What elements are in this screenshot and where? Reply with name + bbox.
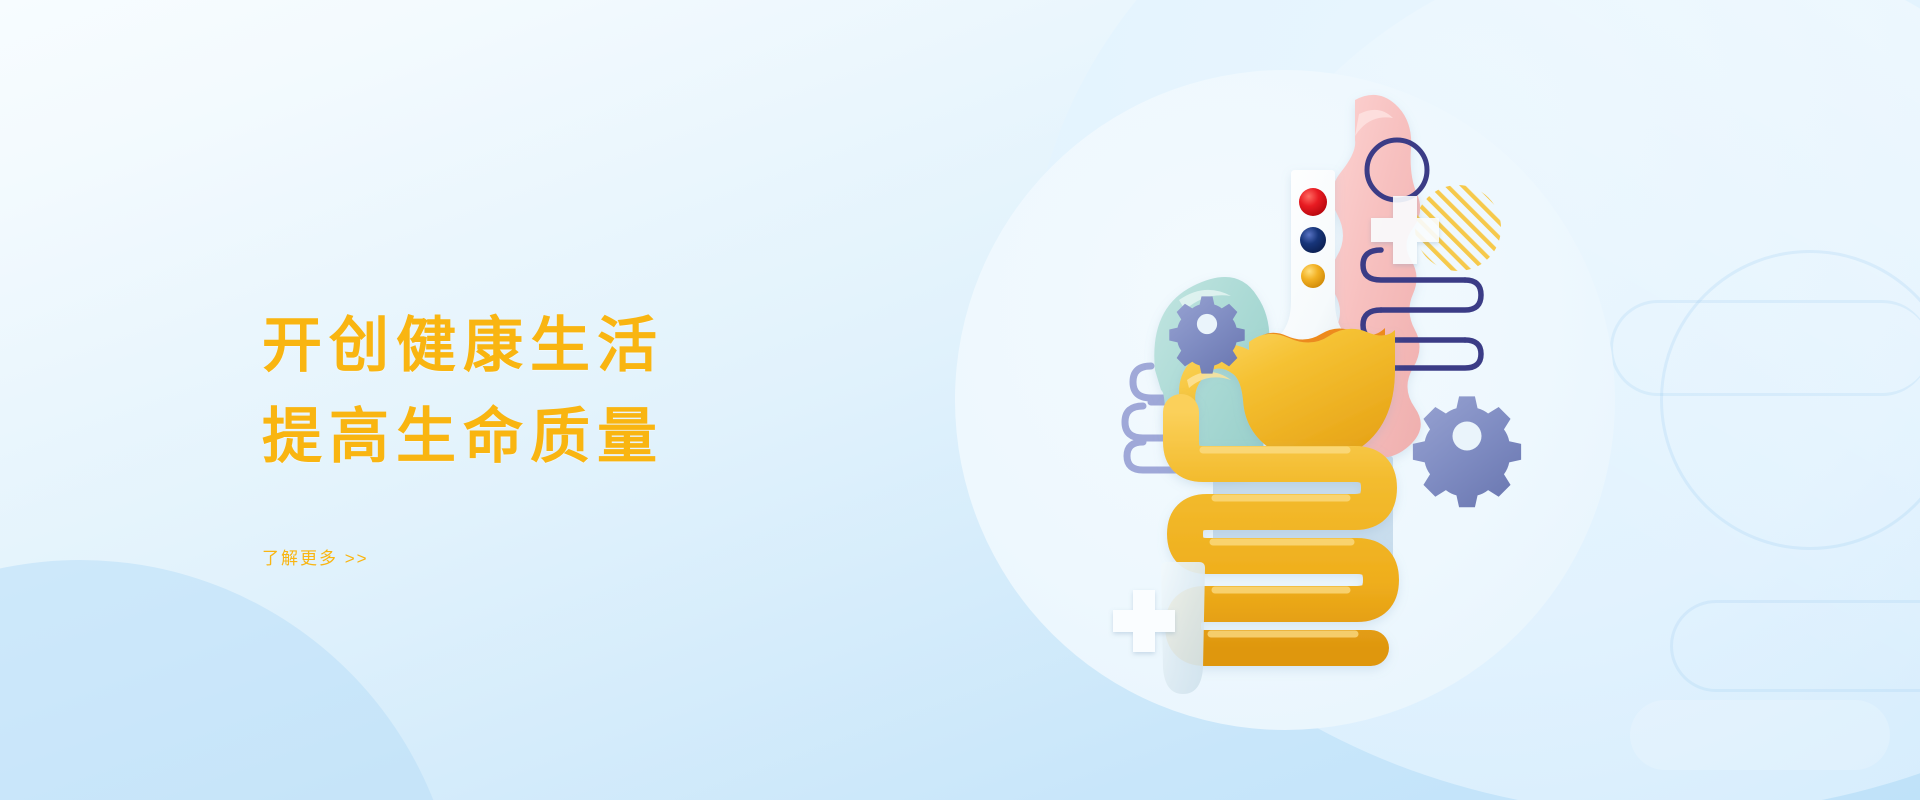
background-outline-bar-bottom: [1630, 700, 1890, 770]
background-circle-bottomleft: [0, 560, 460, 800]
headline-line-1: 开创健康生活: [262, 300, 664, 391]
test-tube-ball-red: [1299, 188, 1327, 216]
hero-copy: 开创健康生活 提高生命质量 了解更多 >>: [262, 300, 664, 569]
gear-large: [1413, 396, 1521, 507]
test-tube-ball-navy: [1300, 227, 1326, 253]
illustration-artwork: [955, 70, 1615, 730]
hero-banner: 开创健康生活 提高生命质量 了解更多 >>: [0, 0, 1920, 800]
background-outline-bar-top: [1610, 300, 1920, 396]
digestive-system-illustration: [955, 70, 1615, 730]
test-tube-ball-yellow: [1301, 264, 1325, 288]
headline-line-2: 提高生命质量: [262, 391, 664, 482]
background-outline-bar-middle: [1670, 600, 1920, 692]
background-outline-ring: [1660, 250, 1920, 550]
learn-more-link[interactable]: 了解更多 >>: [262, 544, 369, 569]
